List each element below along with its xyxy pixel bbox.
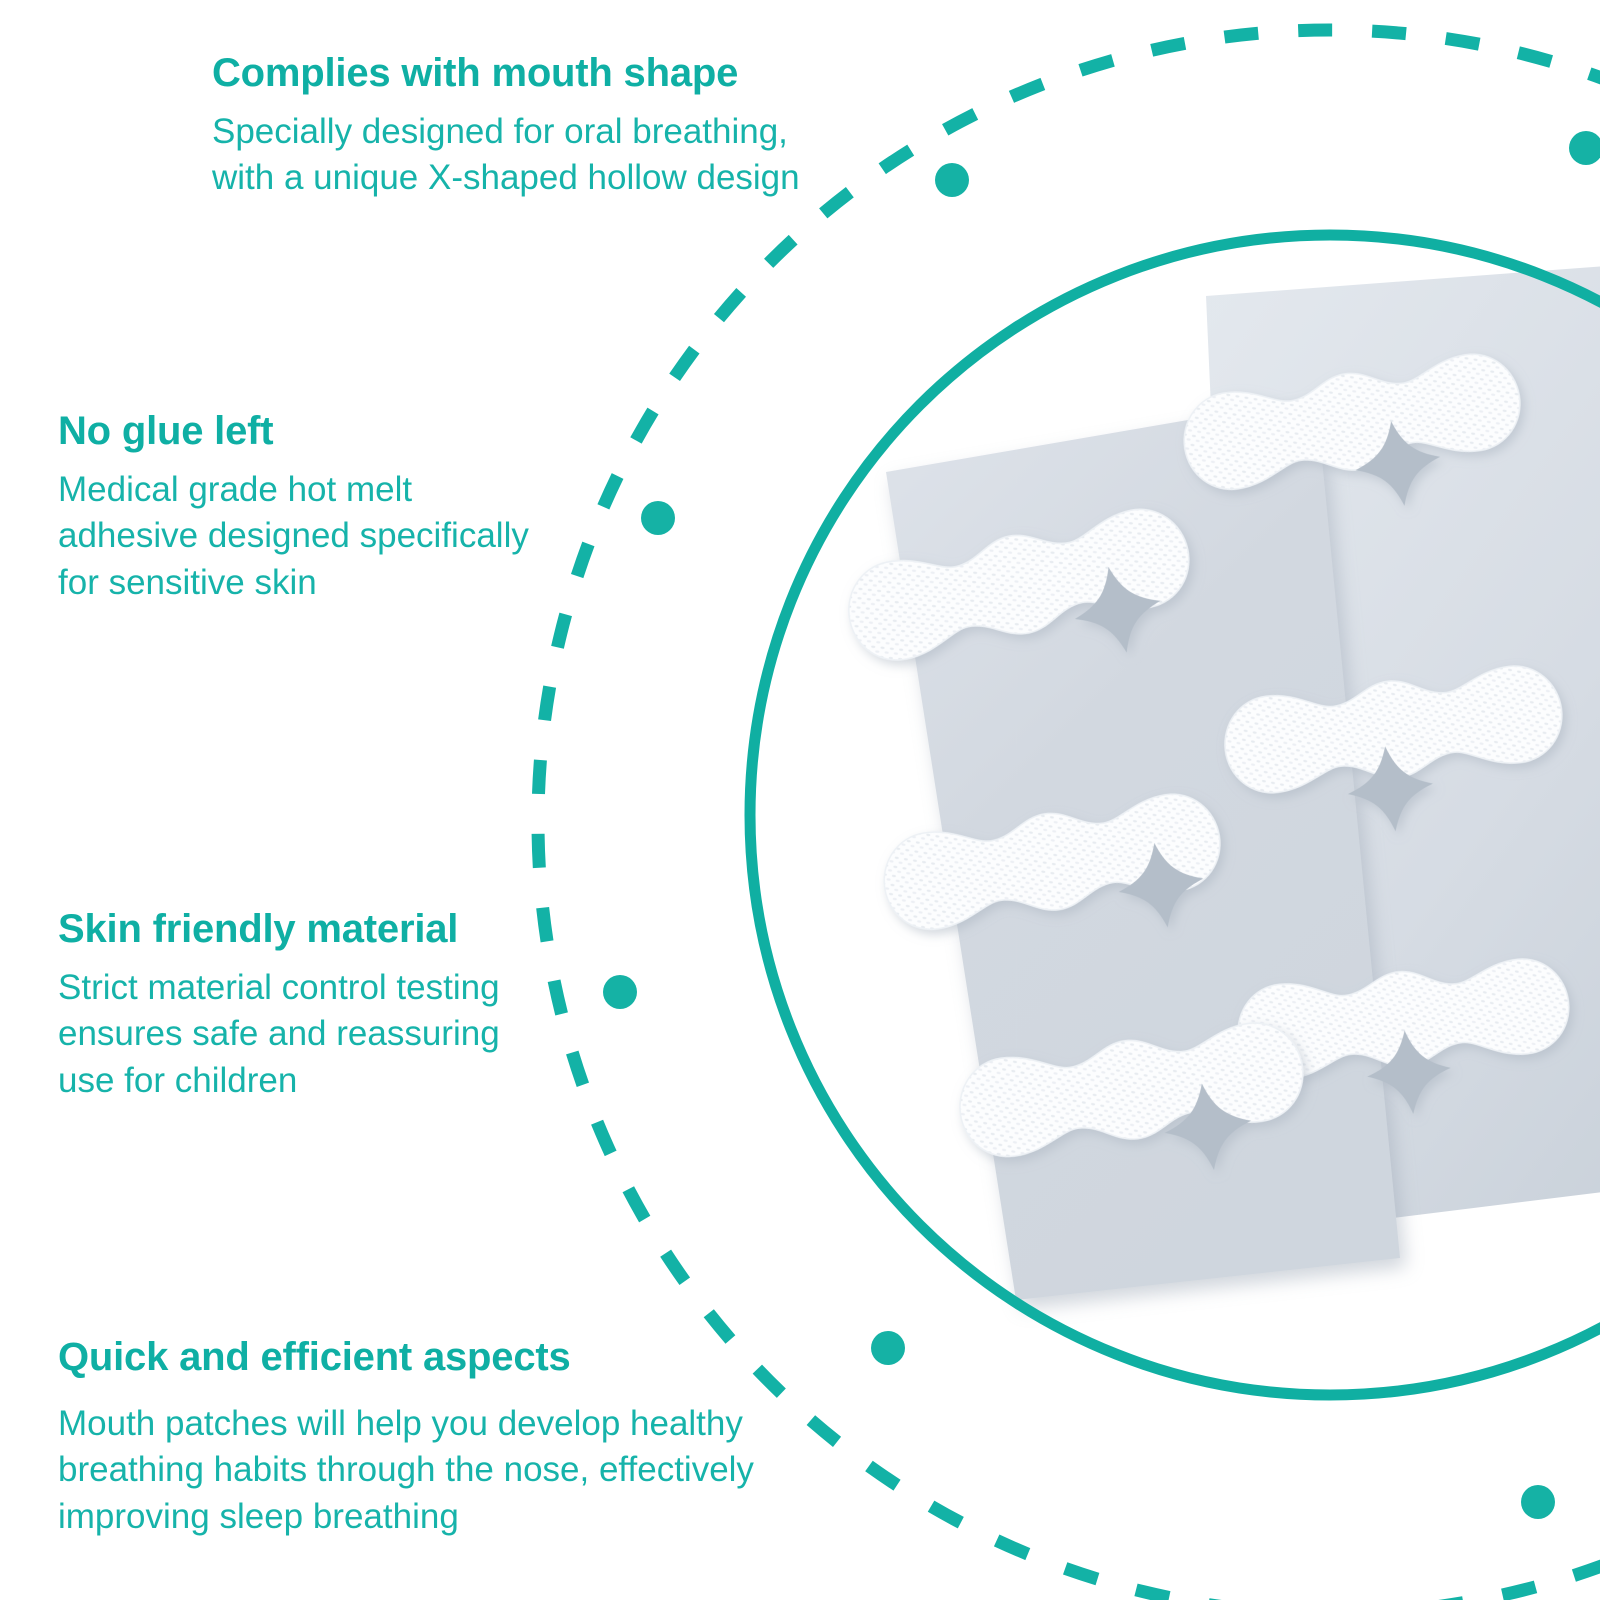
feature-title: Skin friendly material [58,908,500,951]
feature-title: No glue left [58,410,529,453]
feature-body-line: Medical grade hot melt [58,467,529,513]
feature-body-line: improving sleep breathing [58,1494,754,1540]
feature-block-skin-friendly-material: Skin friendly material Strict material c… [58,908,500,1104]
feature-body-line: ensures safe and reassuring [58,1011,500,1057]
feature-body-line: Strict material control testing [58,965,500,1011]
feature-body-line: adhesive designed specifically [58,513,529,559]
dot-quick-and-efficient-aspects [871,1331,905,1365]
feature-block-quick-and-efficient-aspects: Quick and efficient aspects Mouth patche… [58,1336,754,1540]
feature-body-line: Specially designed for oral breathing, [212,109,800,155]
infographic-canvas: Complies with mouth shape Specially desi… [0,0,1600,1600]
feature-body: Mouth patches will help you develop heal… [58,1401,754,1540]
dot-no-glue-left [641,501,675,535]
solid-ring-circle [750,235,1600,1395]
feature-body-line: for sensitive skin [58,560,529,606]
feature-title: Complies with mouth shape [212,52,800,95]
feature-body-line: use for children [58,1058,500,1104]
feature-block-no-glue-left: No glue left Medical grade hot melt adhe… [58,410,529,606]
feature-title: Quick and efficient aspects [58,1336,754,1379]
feature-body-line: breathing habits through the nose, effec… [58,1447,754,1493]
feature-body-line: with a unique X-shaped hollow design [212,155,800,201]
dot-upper-right [1569,131,1600,165]
feature-block-complies-with-mouth-shape: Complies with mouth shape Specially desi… [212,52,800,202]
feature-body: Medical grade hot melt adhesive designed… [58,467,529,606]
dot-complies-with-mouth-shape [935,163,969,197]
dot-lower-right [1521,1485,1555,1519]
feature-body-line: Mouth patches will help you develop heal… [58,1401,754,1447]
feature-body: Strict material control testing ensures … [58,965,500,1104]
dot-skin-friendly-material [603,975,637,1009]
feature-body: Specially designed for oral breathing, w… [212,109,800,201]
